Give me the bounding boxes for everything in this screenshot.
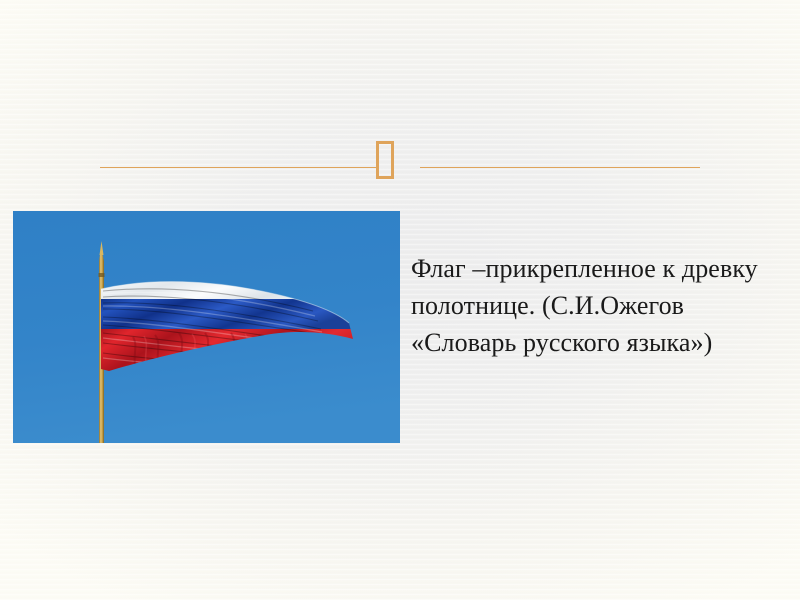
divider-rule-right: [420, 167, 700, 168]
divider-rule-left: [100, 167, 377, 168]
slide-canvas: Флаг –прикрепленное к древку полотнице. …: [0, 0, 800, 600]
russian-flag-photo: [13, 211, 400, 443]
flag-illustration: [13, 211, 400, 443]
vertical-rectangle-ornament-icon: [376, 141, 394, 179]
caption-text: Флаг –прикрепленное к древку полотнице. …: [411, 250, 761, 361]
decorative-divider: [100, 140, 700, 182]
